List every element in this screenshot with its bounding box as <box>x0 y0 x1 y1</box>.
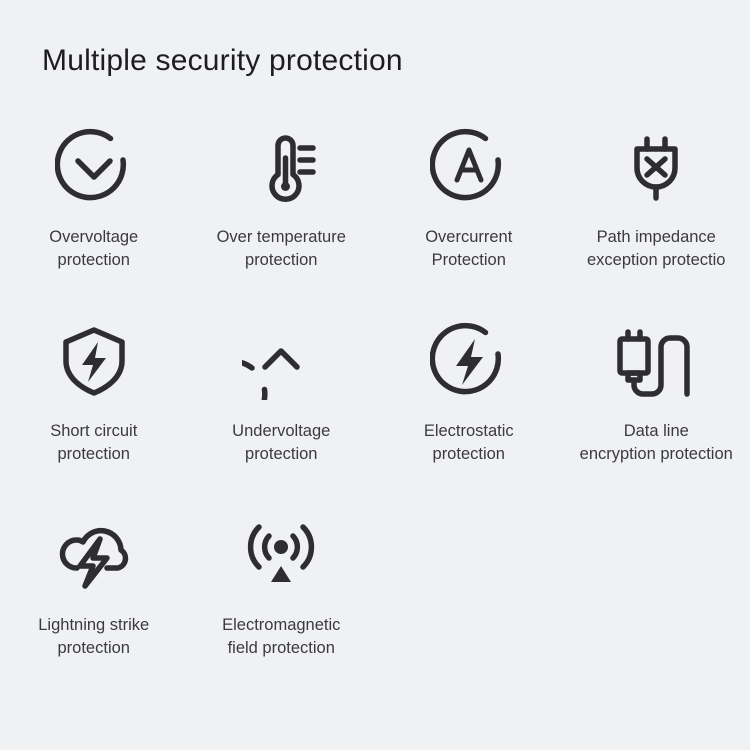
circle-gap-chevron-up-icon <box>242 318 320 404</box>
circle-gap-bolt-icon <box>430 318 508 404</box>
feature-label-line1: Data line <box>624 422 689 440</box>
feature-label-line2: protection <box>232 443 330 466</box>
feature-item-electromagnetic: Electromagnetic field protection <box>188 506 376 700</box>
feature-label-line1: Lightning strike <box>38 616 149 634</box>
feature-label-line1: Undervoltage <box>232 422 330 440</box>
feature-item-path-impedance: Path impedance exception protectio <box>563 118 750 312</box>
feature-item-data-line: Data line encryption protection <box>563 312 750 506</box>
feature-label-line1: Electrostatic <box>424 422 514 440</box>
feature-label-line1: Short circuit <box>50 422 137 440</box>
feature-label-line1: Over temperature <box>217 228 346 246</box>
cloud-bolt-icon <box>52 512 136 598</box>
feature-item-overvoltage: Overvoltage protection <box>0 118 188 312</box>
feature-label: Lightning strike protection <box>38 614 149 660</box>
page-title: Multiple security protection <box>42 44 403 78</box>
data-cable-icon <box>611 318 701 404</box>
feature-label-line2: protection <box>217 249 346 272</box>
feature-item-short-circuit: Short circuit protection <box>0 312 188 506</box>
feature-label-line1: Electromagnetic <box>222 616 340 634</box>
feature-label: Electrostatic protection <box>424 420 514 466</box>
feature-label-line2: Protection <box>425 249 512 272</box>
feature-label: Electromagnetic field protection <box>222 614 340 660</box>
security-features-panel: Multiple security protection Overvoltage… <box>0 0 750 750</box>
feature-label-line1: Overcurrent <box>425 228 512 246</box>
feature-label: Overvoltage protection <box>49 226 138 272</box>
feature-label-line2: protection <box>49 249 138 272</box>
feature-label: Data line encryption protection <box>580 420 733 466</box>
feature-item-undervoltage: Undervoltage protection <box>188 312 376 506</box>
feature-label-line2: encryption protection <box>580 443 733 466</box>
circle-gap-letter-a-icon <box>430 124 508 210</box>
feature-item-electrostatic: Electrostatic protection <box>375 312 563 506</box>
feature-label-line2: protection <box>424 443 514 466</box>
feature-item-lightning-strike: Lightning strike protection <box>0 506 188 700</box>
feature-label-line1: Path impedance <box>597 228 716 246</box>
feature-label: Short circuit protection <box>50 420 137 466</box>
feature-label-line1: Overvoltage <box>49 228 138 246</box>
feature-label: Path impedance exception protectio <box>587 226 726 272</box>
antenna-signal-icon <box>238 512 324 598</box>
feature-label-line2: protection <box>38 637 149 660</box>
feature-label: Over temperature protection <box>217 226 346 272</box>
feature-label: Overcurrent Protection <box>425 226 512 272</box>
features-grid: Overvoltage protection Over temperature … <box>0 118 750 700</box>
feature-label-line2: exception protectio <box>587 249 726 272</box>
circle-gap-chevron-down-icon <box>55 124 133 210</box>
plug-x-icon <box>617 124 695 210</box>
feature-label-line2: protection <box>50 443 137 466</box>
thermometer-icon <box>242 124 320 210</box>
shield-bolt-icon <box>55 318 133 404</box>
feature-label-line2: field protection <box>222 637 340 660</box>
feature-item-over-temperature: Over temperature protection <box>188 118 376 312</box>
feature-item-overcurrent: Overcurrent Protection <box>375 118 563 312</box>
feature-label: Undervoltage protection <box>232 420 330 466</box>
